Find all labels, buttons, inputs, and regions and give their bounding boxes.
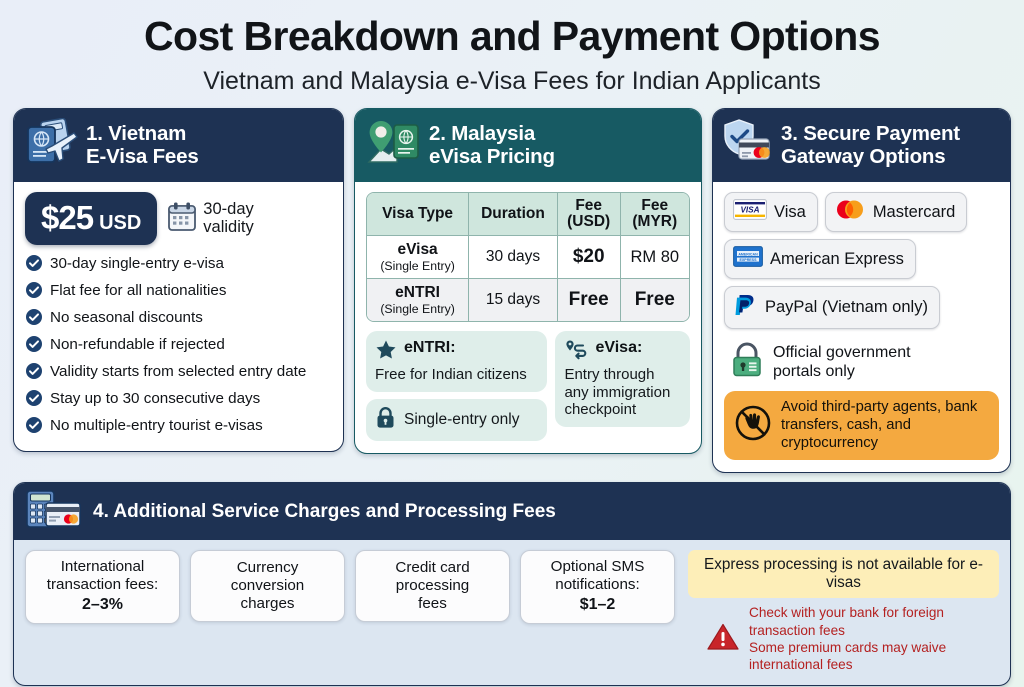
amex-logo-icon: AMERICAN EXPRESS: [733, 246, 763, 272]
card-vietnam-header: 1. Vietnam E-Visa Fees: [14, 109, 343, 182]
validity-wrap: 30-day validity: [167, 201, 253, 237]
card-vietnam-title-line1: 1. Vietnam: [86, 123, 199, 146]
price-badge: $25 USD: [25, 192, 157, 245]
fee-card-line1: Currency: [196, 559, 339, 577]
official-portals-line2: portals only: [773, 363, 911, 381]
paypal-logo-icon: [733, 293, 758, 322]
shield-card-icon: [721, 118, 773, 173]
table-header-row: Visa Type Duration Fee (USD) Fee (MYR): [367, 193, 689, 236]
official-portals-text: Official government portals only: [773, 344, 911, 380]
validity-line2: validity: [203, 219, 253, 237]
card-vietnam-evisa-fees: 1. Vietnam E-Visa Fees $25 USD: [13, 108, 344, 452]
bank-warning-text: Check with your bank for foreign transac…: [749, 604, 999, 674]
check-circle-icon: [25, 281, 43, 304]
svg-text:EXPRESS: EXPRESS: [740, 258, 758, 262]
fee-card-line3: fees: [361, 595, 504, 613]
column-header-visa-type: Visa Type: [367, 193, 469, 236]
table-header: Visa Type Duration Fee (USD) Fee (MYR): [367, 193, 689, 236]
additional-charges-body: International transaction fees: 2–3% Cur…: [14, 540, 1010, 685]
fee-card-international-transaction: International transaction fees: 2–3%: [25, 550, 180, 623]
check-circle-icon: [25, 416, 43, 439]
entri-head: eNTRI:: [375, 339, 538, 366]
fee-card-line2: notifications:: [526, 576, 669, 594]
payment-methods-list: VISA Visa Mastercard: [724, 192, 999, 329]
entri-title: eNTRI:: [404, 339, 456, 357]
card-vietnam-body: $25 USD: [14, 182, 343, 451]
payment-method-label: PayPal (Vietnam only): [765, 298, 928, 317]
cell-duration: 30 days: [469, 236, 558, 279]
table-row: eNTRI (Single Entry) 15 days Free Free: [367, 279, 689, 321]
no-hand-icon: [734, 404, 772, 447]
mastercard-logo-icon: [834, 199, 866, 225]
single-entry-box: Single-entry only: [366, 399, 547, 441]
single-entry-label: Single-entry only: [404, 411, 519, 429]
notes-column: Express processing is not available for …: [685, 550, 999, 674]
table-body: eVisa (Single Entry) 30 days $20 RM 80 e…: [367, 236, 689, 321]
bank-warning-line1: Check with your bank for foreign transac…: [749, 604, 999, 639]
visa-logo-icon: VISA: [733, 199, 767, 225]
price-row: $25 USD: [25, 192, 332, 245]
evisa-info-box: eVisa: Entry through any immigration che…: [555, 331, 690, 427]
evisa-head: eVisa:: [564, 339, 681, 366]
calculator-card-icon: [24, 489, 84, 534]
card-payment-title-line2: Gateway Options: [781, 146, 960, 169]
star-icon: [375, 339, 397, 366]
list-item-label: Flat fee for all nationalities: [50, 281, 226, 299]
additional-charges-title: 4. Additional Service Charges and Proces…: [93, 501, 556, 523]
fee-card-line2: transaction fees:: [31, 576, 174, 594]
list-item-label: No multiple-entry tourist e-visas: [50, 416, 263, 434]
card-vietnam-title: 1. Vietnam E-Visa Fees: [86, 123, 199, 169]
avoid-warning-text: Avoid third-party agents, bank transfers…: [781, 399, 989, 452]
fee-card-line1: Credit card: [361, 559, 504, 577]
list-item: Stay up to 30 consecutive days: [25, 389, 332, 412]
card-malaysia-header: 2. Malaysia eVisa Pricing: [355, 109, 701, 182]
list-item-label: Non-refundable if rejected: [50, 335, 225, 353]
cell-fee-myr: RM 80: [621, 236, 689, 279]
fee-card-sms-notifications: Optional SMS notifications: $1–2: [520, 550, 675, 623]
cell-duration: 15 days: [469, 279, 558, 321]
lock-icon: [375, 406, 396, 434]
fee-card-currency-conversion: Currency conversion charges: [190, 550, 345, 622]
column-header-fee-usd: Fee (USD): [558, 193, 621, 236]
list-item: No multiple-entry tourist e-visas: [25, 416, 332, 439]
payment-method-label: Visa: [774, 203, 806, 222]
table-row: eVisa (Single Entry) 30 days $20 RM 80: [367, 236, 689, 279]
price-amount: $25: [41, 199, 93, 237]
cell-visa-type: eNTRI (Single Entry): [367, 279, 469, 321]
list-item-label: 30-day single-entry e-visa: [50, 254, 224, 272]
entri-info-box: eNTRI: Free for Indian citizens: [366, 331, 547, 392]
avoid-warning-box: Avoid third-party agents, bank transfers…: [724, 391, 999, 460]
check-circle-icon: [25, 389, 43, 412]
evisa-body: Entry through any immigration checkpoint: [564, 366, 681, 419]
green-lock-icon: [730, 342, 764, 383]
passport-airplane-icon: [22, 118, 78, 173]
cell-visa-type: eVisa (Single Entry): [367, 236, 469, 279]
malaysia-feature-right: eVisa: Entry through any immigration che…: [555, 331, 690, 427]
card-malaysia-evisa-pricing: 2. Malaysia eVisa Pricing Visa Type Dura…: [354, 108, 702, 454]
cards-row: 1. Vietnam E-Visa Fees $25 USD: [0, 94, 1024, 473]
entri-body: Free for Indian citizens: [375, 366, 538, 384]
cell-fee-myr: Free: [621, 279, 689, 321]
fee-card-line2: processing: [361, 577, 504, 595]
list-item-label: No seasonal discounts: [50, 308, 203, 326]
card-payment-body: VISA Visa Mastercard: [713, 182, 1010, 472]
route-pin-icon: [564, 339, 588, 366]
page-title: Cost Breakdown and Payment Options: [0, 16, 1024, 57]
additional-charges-section: 4. Additional Service Charges and Proces…: [13, 482, 1011, 686]
check-circle-icon: [25, 254, 43, 277]
list-item: Flat fee for all nationalities: [25, 281, 332, 304]
list-item-label: Validity starts from selected entry date: [50, 362, 306, 380]
card-payment-title: 3. Secure Payment Gateway Options: [781, 123, 960, 169]
payment-method-amex[interactable]: AMERICAN EXPRESS American Express: [724, 239, 916, 279]
list-item: 30-day single-entry e-visa: [25, 254, 332, 277]
bank-warning-line2: Some premium cards may waive internation…: [749, 639, 999, 674]
column-header-fee-myr: Fee (MYR): [621, 193, 689, 236]
official-portals-row: Official government portals only: [724, 336, 999, 391]
calendar-icon: [167, 201, 197, 237]
svg-text:AMERICAN: AMERICAN: [738, 252, 758, 256]
card-payment-title-line1: 3. Secure Payment: [781, 123, 960, 146]
svg-text:VISA: VISA: [740, 206, 759, 215]
list-item: No seasonal discounts: [25, 308, 332, 331]
fee-card-line1: International: [31, 558, 174, 576]
payment-method-label: Mastercard: [873, 203, 956, 222]
fee-card-credit-card-processing: Credit card processing fees: [355, 550, 510, 622]
evisa-title: eVisa:: [595, 339, 642, 357]
fee-card-line2: conversion: [196, 577, 339, 595]
card-malaysia-title: 2. Malaysia eVisa Pricing: [429, 123, 555, 169]
card-malaysia-title-line1: 2. Malaysia: [429, 123, 555, 146]
column-header-duration: Duration: [469, 193, 558, 236]
price-currency: USD: [99, 212, 141, 235]
list-item: Validity starts from selected entry date: [25, 362, 332, 385]
page-header: Cost Breakdown and Payment Options Vietn…: [0, 0, 1024, 94]
cell-fee-usd: Free: [558, 279, 621, 321]
card-malaysia-body: Visa Type Duration Fee (USD) Fee (MYR): [355, 182, 701, 453]
fee-card-value: $1–2: [526, 595, 669, 616]
validity-text: 30-day validity: [203, 201, 253, 237]
map-pin-passport-icon: [363, 118, 421, 173]
fee-card-line1: Optional SMS: [526, 558, 669, 576]
malaysia-feature-left: eNTRI: Free for Indian citizens: [366, 331, 547, 441]
malaysia-pricing-table: Visa Type Duration Fee (USD) Fee (MYR): [366, 192, 690, 322]
malaysia-feature-row: eNTRI: Free for Indian citizens: [366, 331, 690, 441]
fee-card-line3: charges: [196, 595, 339, 613]
card-secure-payment-gateway: 3. Secure Payment Gateway Options VISA V…: [712, 108, 1011, 473]
express-processing-note: Express processing is not available for …: [688, 550, 999, 598]
card-payment-header: 3. Secure Payment Gateway Options: [713, 109, 1010, 182]
card-vietnam-title-line2: E-Visa Fees: [86, 146, 199, 169]
validity-line1: 30-day: [203, 201, 253, 219]
additional-charges-header: 4. Additional Service Charges and Proces…: [14, 483, 1010, 540]
check-circle-icon: [25, 362, 43, 385]
page-subtitle: Vietnam and Malaysia e-Visa Fees for Ind…: [0, 69, 1024, 94]
vietnam-bullet-list: 30-day single-entry e-visa Flat fee for …: [25, 254, 332, 439]
list-item-label: Stay up to 30 consecutive days: [50, 389, 260, 407]
cell-fee-usd: $20: [558, 236, 621, 279]
list-item: Non-refundable if rejected: [25, 335, 332, 358]
warning-triangle-icon: [706, 622, 740, 657]
card-malaysia-title-line2: eVisa Pricing: [429, 146, 555, 169]
check-circle-icon: [25, 335, 43, 358]
payment-method-visa[interactable]: VISA Visa: [724, 192, 818, 232]
check-circle-icon: [25, 308, 43, 331]
fee-card-value: 2–3%: [31, 595, 174, 616]
bank-warning-row: Check with your bank for foreign transac…: [688, 604, 999, 674]
payment-method-label: American Express: [770, 250, 904, 269]
payment-method-mastercard[interactable]: Mastercard: [825, 192, 968, 232]
payment-method-paypal[interactable]: PayPal (Vietnam only): [724, 286, 940, 329]
official-portals-line1: Official government: [773, 344, 911, 362]
